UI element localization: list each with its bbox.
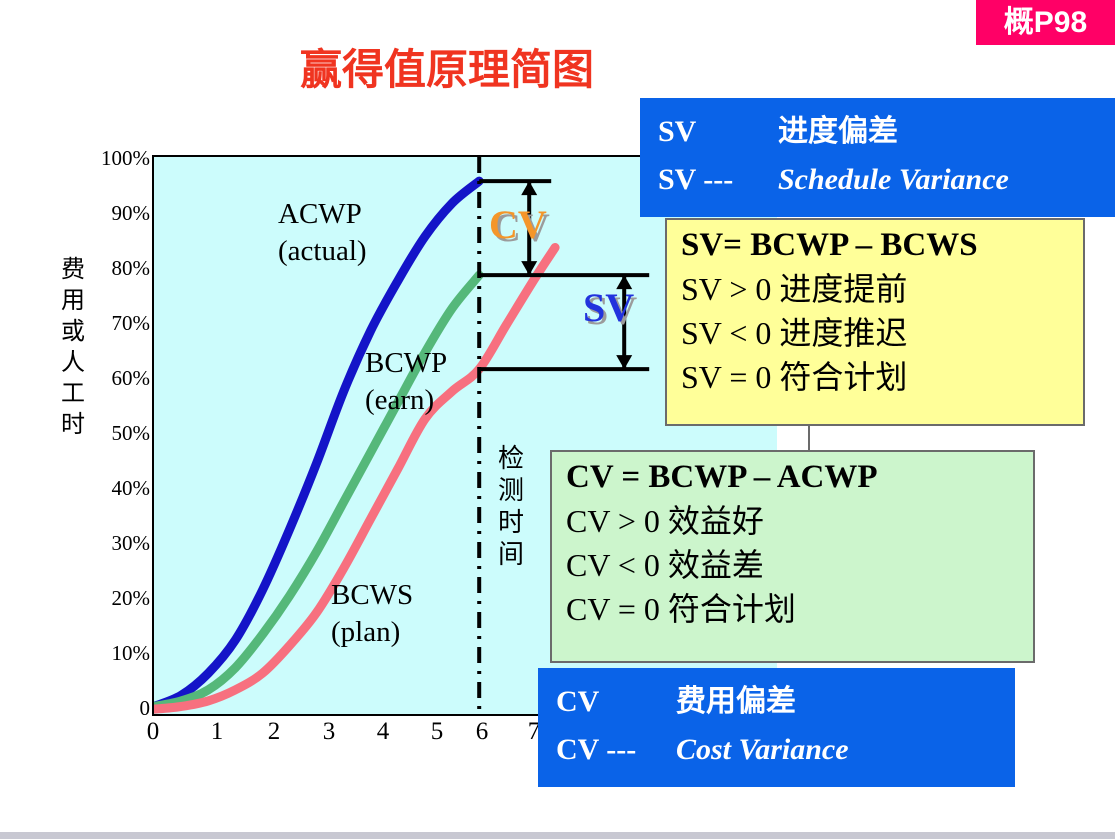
sv-chinese-name: 进度偏差 xyxy=(778,115,898,148)
sv-rule-less: SV < 0 进度推迟 xyxy=(681,311,1073,355)
detection-time-char-4: 间 xyxy=(496,539,526,571)
yellow-green-connector xyxy=(808,425,810,450)
sv-rule-equal: SV = 0 符合计划 xyxy=(681,355,1073,399)
y-tick-80: 80% xyxy=(88,256,150,281)
x-tick-6: 6 xyxy=(467,718,497,746)
bcws-caption-line2: (plan) xyxy=(331,614,413,651)
y-axis-title-char-3: 或 xyxy=(58,317,88,348)
detection-time-label: 检 测 时 间 xyxy=(496,443,526,571)
page-number-badge: 概P98 xyxy=(976,0,1115,45)
y-axis-title-char-6: 时 xyxy=(58,410,88,441)
sv-definition-row-2: SV ---Schedule Variance xyxy=(658,156,1115,204)
sv-rule-greater: SV > 0 进度提前 xyxy=(681,267,1073,311)
sv-formula: SV= BCWP – BCWS xyxy=(681,224,1073,267)
cv-rule-equal: CV = 0 符合计划 xyxy=(566,587,1023,631)
cv-code-2: CV --- xyxy=(556,726,676,774)
sv-english-name: Schedule Variance xyxy=(778,163,1009,196)
y-axis-title-char-4: 人 xyxy=(58,348,88,379)
y-tick-100: 100% xyxy=(88,146,150,171)
bottom-status-bar xyxy=(0,832,1115,839)
cv-rule-greater: CV > 0 效益好 xyxy=(566,499,1023,543)
cv-english-name: Cost Variance xyxy=(676,733,849,766)
bcws-caption: BCWS (plan) xyxy=(331,577,413,651)
bcwp-caption-line1: BCWP xyxy=(365,345,447,382)
cv-definition-row-2: CV ---Cost Variance xyxy=(556,726,1015,774)
cv-rule-less: CV < 0 效益差 xyxy=(566,543,1023,587)
y-tick-20: 20% xyxy=(88,586,150,611)
acwp-caption-line1: ACWP xyxy=(278,196,367,233)
cv-code-1: CV xyxy=(556,678,676,726)
y-tick-40: 40% xyxy=(88,476,150,501)
cv-definition-row-1: CV费用偏差 xyxy=(556,678,1015,726)
detection-time-char-1: 检 xyxy=(496,443,526,475)
y-tick-50: 50% xyxy=(88,421,150,446)
detection-time-char-3: 时 xyxy=(496,507,526,539)
y-tick-30: 30% xyxy=(88,531,150,556)
x-tick-1: 1 xyxy=(202,718,232,746)
x-tick-2: 2 xyxy=(259,718,289,746)
bcws-caption-line1: BCWS xyxy=(331,577,413,614)
y-tick-10: 10% xyxy=(88,641,150,666)
sv-code-1: SV xyxy=(658,108,778,156)
sv-definition-row-1: SV进度偏差 xyxy=(658,108,1115,156)
x-tick-3: 3 xyxy=(314,718,344,746)
acwp-caption: ACWP (actual) xyxy=(278,196,367,270)
acwp-caption-line2: (actual) xyxy=(278,233,367,270)
x-tick-4: 4 xyxy=(368,718,398,746)
x-tick-0: 0 xyxy=(138,718,168,746)
y-tick-60: 60% xyxy=(88,366,150,391)
bcwp-caption-line2: (earn) xyxy=(365,382,447,419)
sv-formula-box: SV= BCWP – BCWS SV > 0 进度提前 SV < 0 进度推迟 … xyxy=(665,218,1085,426)
x-tick-5: 5 xyxy=(422,718,452,746)
sv-variance-label: SV xyxy=(583,288,634,328)
y-tick-70: 70% xyxy=(88,311,150,336)
cv-chinese-name: 费用偏差 xyxy=(676,685,796,718)
cv-formula-box: CV = BCWP – ACWP CV > 0 效益好 CV < 0 效益差 C… xyxy=(550,450,1035,663)
y-tick-90: 90% xyxy=(88,201,150,226)
y-axis-title-char-5: 工 xyxy=(58,379,88,410)
detection-time-char-2: 测 xyxy=(496,475,526,507)
cv-formula: CV = BCWP – ACWP xyxy=(566,456,1023,499)
page-title: 赢得值原理简图 xyxy=(300,44,720,96)
sv-code-2: SV --- xyxy=(658,156,778,204)
y-axis-title-char-2: 用 xyxy=(58,286,88,317)
cv-variance-label: CV xyxy=(489,205,547,245)
y-axis-title-char-1: 费 xyxy=(58,255,88,286)
cv-definition-box: CV费用偏差 CV ---Cost Variance xyxy=(538,668,1015,787)
y-axis-title: 费 用 或 人 工 时 xyxy=(58,255,88,441)
bcwp-caption: BCWP (earn) xyxy=(365,345,447,419)
slide-canvas: 概P98 赢得值原理简图 100% 90% 80% 70% 60% 50% 40… xyxy=(0,0,1115,839)
sv-definition-box: SV进度偏差 SV ---Schedule Variance xyxy=(640,98,1115,217)
